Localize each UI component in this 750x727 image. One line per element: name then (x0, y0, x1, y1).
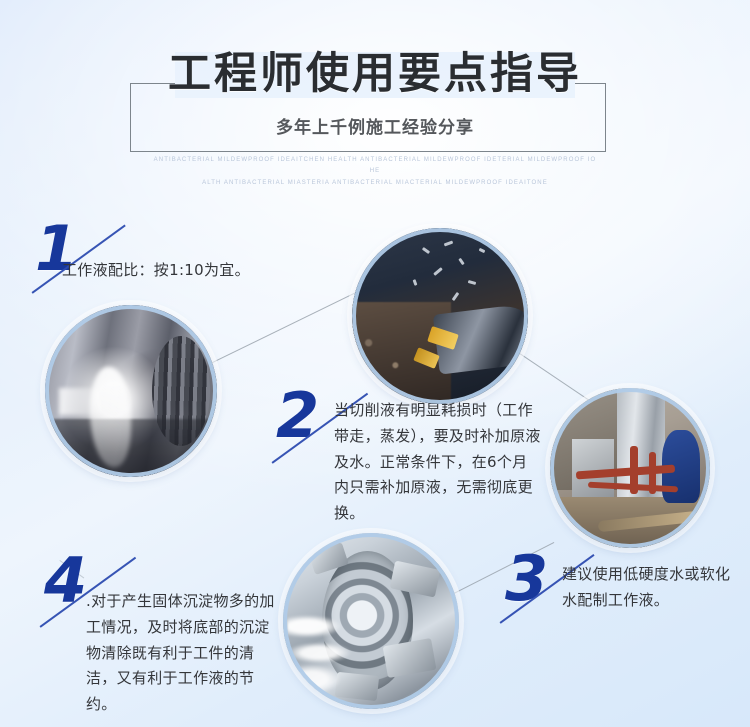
point-text-3: 建议使用低硬度水或软化水配制工作液。 (562, 562, 742, 614)
point-number-2: 2 (276, 385, 317, 447)
english-line-2: ALTH ANTIBACTERIAL MIASTERIA ANTIBACTERI… (202, 180, 548, 186)
point-text-1: 工作液配比：按1:10为宜。 (62, 258, 312, 284)
point-number-3: 3 (505, 548, 546, 610)
photo-circle-2 (352, 228, 528, 404)
point-text-2: 当切削液有明显耗损时（工作带走，蒸发），要及时补加原液及水。正常条件下，在6个月… (334, 398, 542, 527)
photo-circle-3 (550, 388, 710, 548)
point-number-4: 4 (44, 550, 85, 612)
chuck-water-image (283, 533, 459, 709)
point-text-4: .对于产生固体沉淀物多的加工情况，及时将底部的沉淀物清除既有利于工件的清洁，又有… (86, 589, 278, 718)
page-title: 工程师使用要点指导 (0, 52, 750, 97)
page-root: 工程师使用要点指导 多年上千例施工经验分享 ANTIBACTERIAL MILD… (0, 0, 750, 727)
page-subtitle: 多年上千例施工经验分享 (0, 113, 750, 138)
metal-chips-image (352, 228, 528, 404)
factory-piping-image (550, 388, 710, 548)
english-line-1: ANTIBACTERIAL MILDEWPROOF IDEAITCHEN HEA… (154, 157, 597, 174)
photo-circle-1 (45, 305, 217, 477)
lathe-coolant-image (45, 305, 217, 477)
connector-line-1-2 (196, 289, 363, 371)
decorative-english-text: ANTIBACTERIAL MILDEWPROOF IDEAITCHEN HEA… (0, 155, 750, 189)
photo-circle-4 (283, 533, 459, 709)
